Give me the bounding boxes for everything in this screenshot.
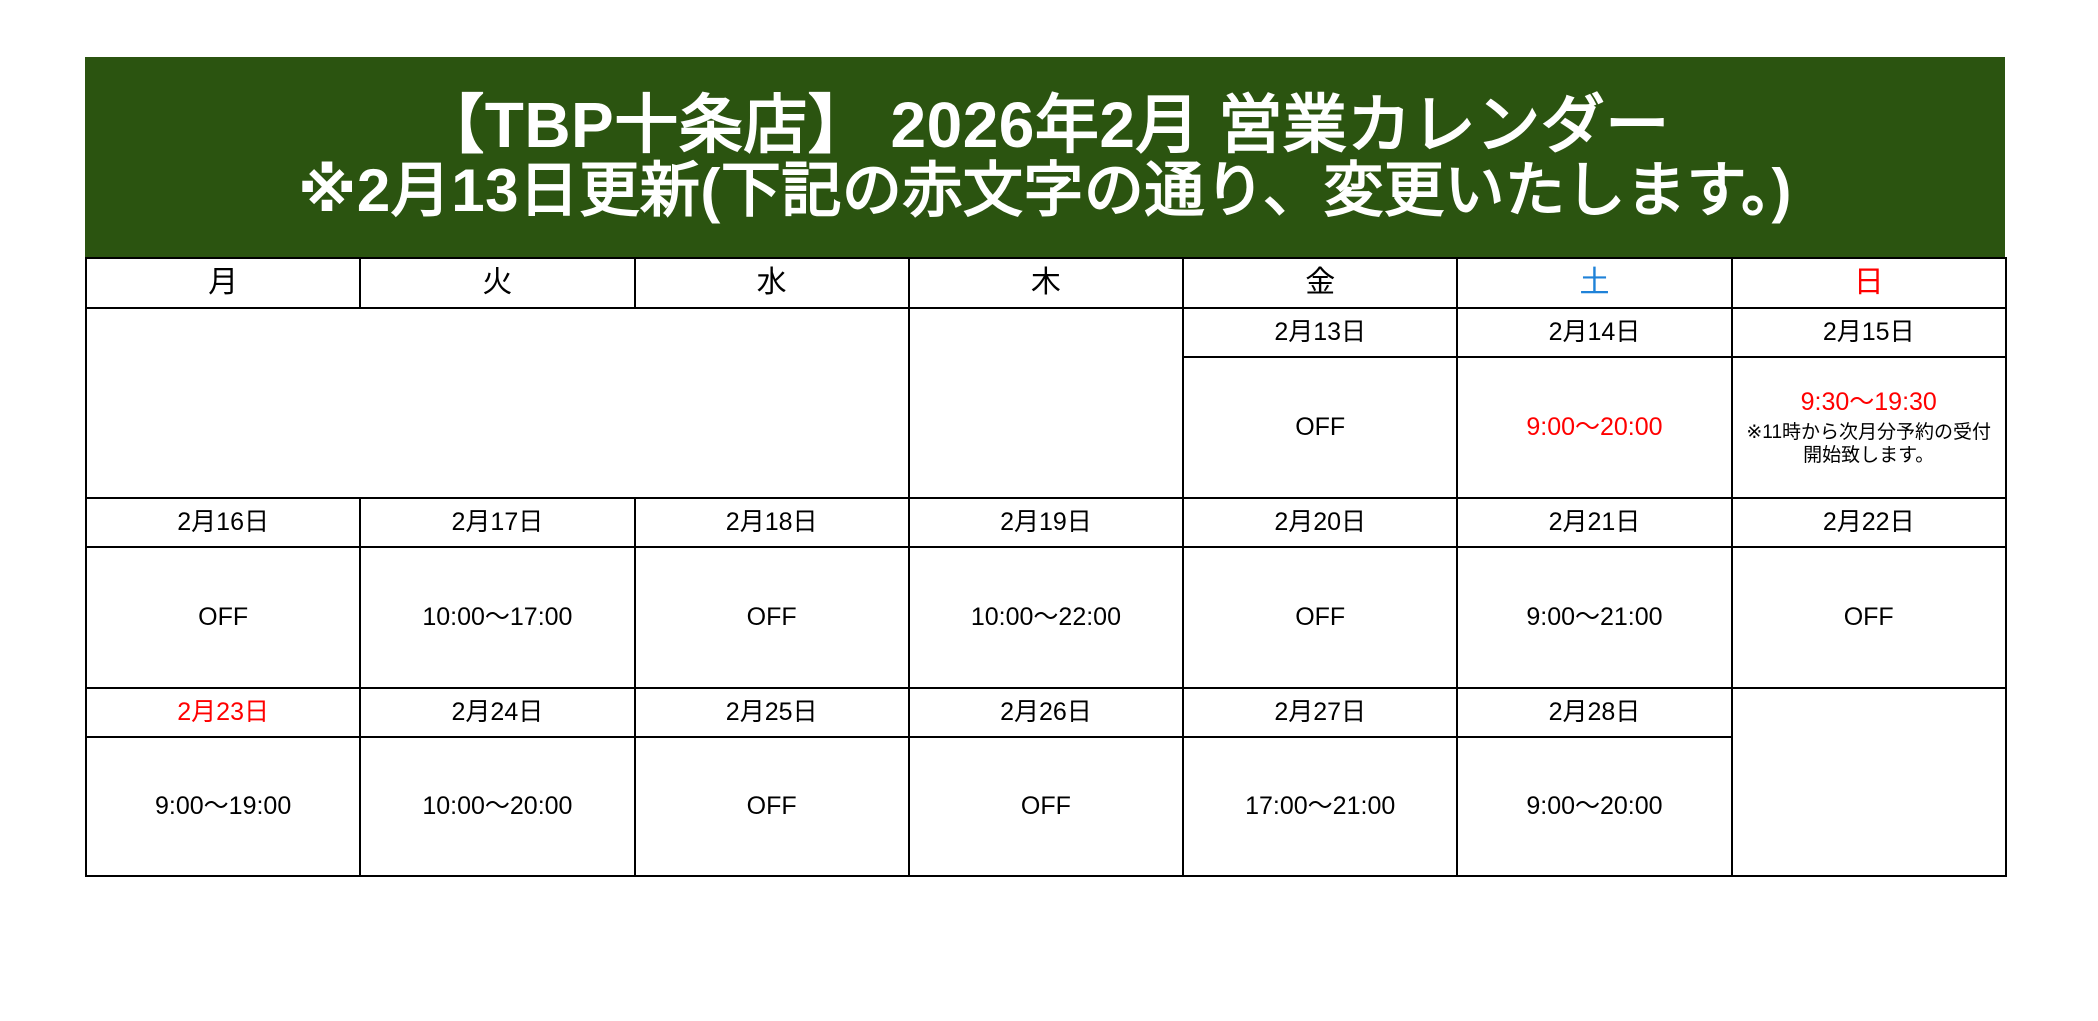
hours-cell-feb18: OFF xyxy=(635,547,909,688)
info-line-1: 当店の営業時間外でセッション受講を xyxy=(87,366,908,391)
week3-date-row: 2月23日 2月24日 2月25日 2月26日 2月27日 2月28日 xyxy=(86,688,2006,737)
hours-cell-feb28: 9:00～20:00 xyxy=(1457,737,1731,876)
date-cell-feb24: 2月24日 xyxy=(360,688,634,737)
weekday-header-tue: 火 xyxy=(360,258,634,308)
date-cell-feb26: 2月26日 xyxy=(909,688,1183,737)
weekday-header-mon: 月 xyxy=(86,258,360,308)
date-cell-feb19: 2月19日 xyxy=(909,498,1183,547)
hours-cell-feb17: 10:00～17:00 xyxy=(360,547,634,688)
date-cell-feb15: 2月15日 xyxy=(1732,308,2006,357)
hours-cell-feb25: OFF xyxy=(635,737,909,876)
hours-cell-feb26: OFF xyxy=(909,737,1183,876)
week2-date-row: 2月16日 2月17日 2月18日 2月19日 2月20日 2月21日 2月22… xyxy=(86,498,2006,547)
hours-cell-feb15-time: 9:30～19:30 xyxy=(1801,387,1937,418)
hours-cell-feb22: OFF xyxy=(1732,547,2006,688)
date-cell-feb20: 2月20日 xyxy=(1183,498,1457,547)
date-cell-feb13: 2月13日 xyxy=(1183,308,1457,357)
calendar-update-notice: ※2月13日更新(下記の赤文字の通り、変更いたします。) xyxy=(298,160,1792,221)
weekday-header-wed: 水 xyxy=(635,258,909,308)
calendar-title: 【TBP十条店】 2026年2月 営業カレンダー xyxy=(420,93,1670,158)
date-cell-feb28: 2月28日 xyxy=(1457,688,1731,737)
date-cell-feb18: 2月18日 xyxy=(635,498,909,547)
date-cell-feb27: 2月27日 xyxy=(1183,688,1457,737)
date-cell-feb17: 2月17日 xyxy=(360,498,634,547)
feb15-note-wrapper: 9:30～19:30 ※11時から次月分予約の受付開始致します。 xyxy=(1733,387,2005,468)
blocked-cell-thursday xyxy=(909,308,1183,498)
hours-cell-feb15: 9:30～19:30 ※11時から次月分予約の受付開始致します。 xyxy=(1732,357,2006,498)
calendar-header-banner: 【TBP十条店】 2026年2月 営業カレンダー ※2月13日更新(下記の赤文字… xyxy=(85,57,2005,257)
weekday-header-row: 月 火 水 木 金 土 日 xyxy=(86,258,2006,308)
weekday-header-thu: 木 xyxy=(909,258,1183,308)
hours-cell-feb13: OFF xyxy=(1183,357,1457,498)
business-hours-calendar: 月 火 水 木 金 土 日 当店の営業時間外でセッション受講を 希望される方はご… xyxy=(85,257,2007,877)
date-cell-feb22: 2月22日 xyxy=(1732,498,2006,547)
empty-cell-trailing xyxy=(1732,688,2006,876)
date-cell-feb14: 2月14日 xyxy=(1457,308,1731,357)
hours-cell-feb21: 9:00～21:00 xyxy=(1457,547,1731,688)
hours-cell-feb24: 10:00～20:00 xyxy=(360,737,634,876)
hours-cell-feb19: 10:00～22:00 xyxy=(909,547,1183,688)
weekday-header-fri: 金 xyxy=(1183,258,1457,308)
hours-cell-feb20: OFF xyxy=(1183,547,1457,688)
hours-cell-feb14: 9:00～20:00 xyxy=(1457,357,1731,498)
hours-cell-feb23: 9:00～19:00 xyxy=(86,737,360,876)
week2-hours-row: OFF 10:00～17:00 OFF 10:00～22:00 OFF 9:00… xyxy=(86,547,2006,688)
after-hours-info-block: 当店の営業時間外でセッション受講を 希望される方はご相談ください。 可能な場合は… xyxy=(86,308,909,498)
date-cell-feb21: 2月21日 xyxy=(1457,498,1731,547)
weekday-header-sat: 土 xyxy=(1457,258,1731,308)
week1-date-row: 当店の営業時間外でセッション受講を 希望される方はご相談ください。 可能な場合は… xyxy=(86,308,2006,357)
week3-hours-row: 9:00～19:00 10:00～20:00 OFF OFF 17:00～21:… xyxy=(86,737,2006,876)
info-line-2: 希望される方はご相談ください。 xyxy=(87,391,908,416)
date-cell-feb25: 2月25日 xyxy=(635,688,909,737)
calendar-page: 【TBP十条店】 2026年2月 営業カレンダー ※2月13日更新(下記の赤文字… xyxy=(0,0,2098,1021)
hours-cell-feb15-note: ※11時から次月分予約の受付開始致します。 xyxy=(1744,421,1994,469)
date-cell-feb16: 2月16日 xyxy=(86,498,360,547)
date-cell-feb23: 2月23日 xyxy=(86,688,360,737)
weekday-header-sun: 日 xyxy=(1732,258,2006,308)
hours-cell-feb16: OFF xyxy=(86,547,360,688)
hours-cell-feb27: 17:00～21:00 xyxy=(1183,737,1457,876)
info-line-3: 可能な場合は、無料で対応致します。 xyxy=(87,416,908,441)
